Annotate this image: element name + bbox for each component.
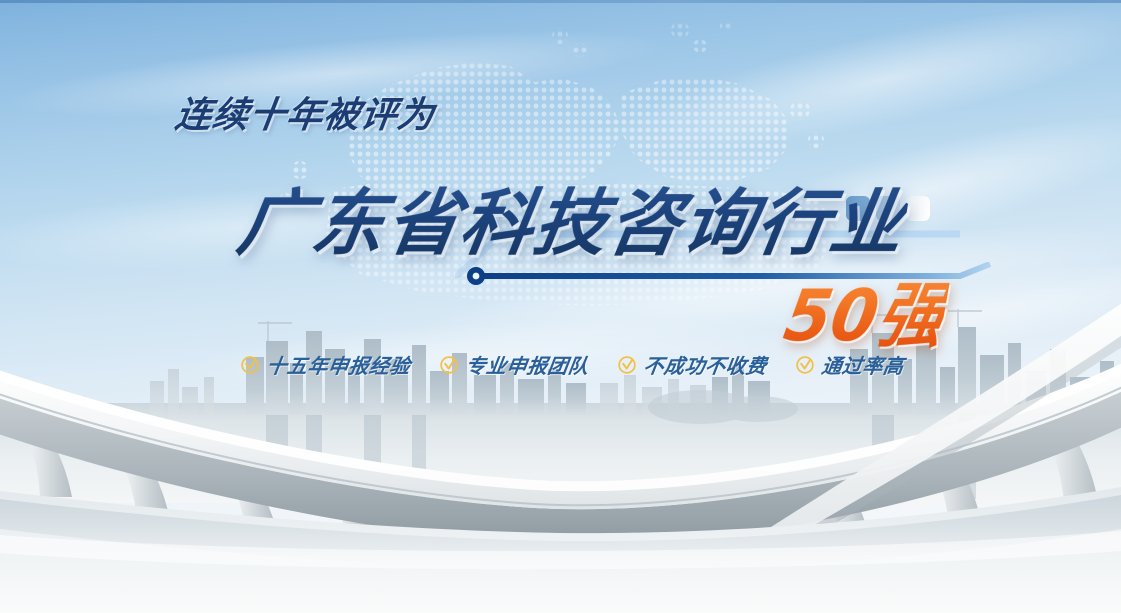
check-circle-icon: [795, 355, 815, 375]
feature-label: 不成功不收费: [641, 350, 768, 379]
feature-label: 通过率高: [819, 350, 905, 379]
promotional-banner: 连续十年被评为 广东省科技咨询行业 50强 十五年申报经验 专业申报团队 不成功…: [0, 0, 1121, 613]
check-circle-icon: [240, 355, 260, 375]
check-circle-icon: [439, 355, 459, 375]
square-white: [906, 196, 930, 221]
feature-label: 十五年申报经验: [265, 350, 413, 379]
headline-title: 广东省科技咨询行业: [232, 164, 915, 269]
feature-label: 专业申报团队: [463, 350, 590, 379]
rank-badge-text: 50强: [778, 258, 954, 362]
feature-item: 通过率高: [795, 350, 904, 379]
feature-item: 专业申报团队: [439, 350, 589, 379]
feature-item: 十五年申报经验: [240, 350, 411, 379]
feature-list: 十五年申报经验 专业申报团队 不成功不收费 通过率高: [240, 350, 904, 379]
kicker-text: 连续十年被评为: [172, 86, 438, 138]
feature-item: 不成功不收费: [617, 350, 767, 379]
check-circle-icon: [617, 355, 637, 375]
bridge-architecture-illustration: [0, 283, 1121, 613]
stadium-structure: [648, 390, 798, 424]
